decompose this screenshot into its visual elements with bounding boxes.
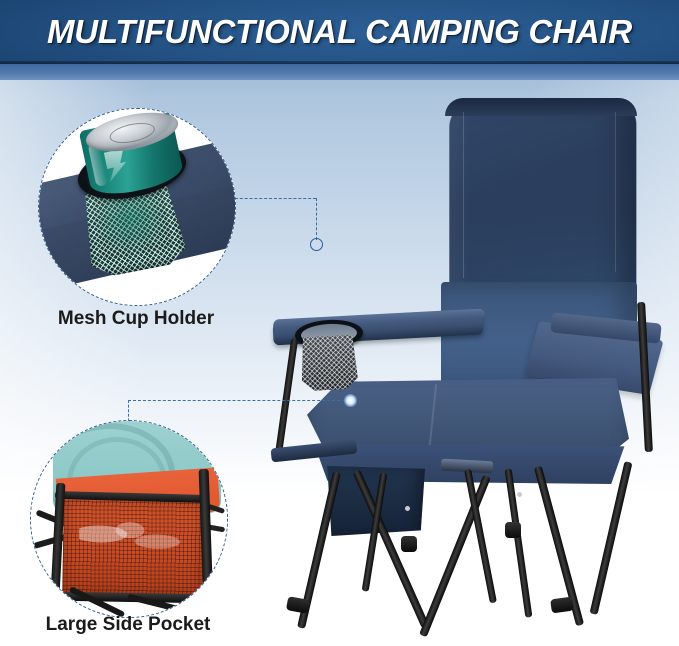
chair-foot-left xyxy=(286,596,310,614)
callout-large-side-pocket-circle xyxy=(30,420,228,618)
connector-cup-holder-horizontal xyxy=(230,198,316,199)
chair-frame-hub-left xyxy=(401,536,417,552)
callout-label-large-side-pocket: Large Side Pocket xyxy=(30,614,226,636)
chair-frame-hub-right xyxy=(505,522,521,538)
callout-mesh-cup-holder-circle xyxy=(38,108,236,306)
connector-side-pocket-horizontal xyxy=(128,400,350,401)
product-image-camping-chair xyxy=(255,92,665,646)
detail-mesh-pocket-pattern xyxy=(79,516,186,562)
chair-rivet-1 xyxy=(405,506,410,511)
header-banner: MULTIFUNCTIONAL CAMPING CHAIR xyxy=(0,0,679,64)
connector-cup-holder-marker xyxy=(310,238,323,251)
detail-soda-can-logo xyxy=(104,149,130,183)
callout-label-mesh-cup-holder: Mesh Cup Holder xyxy=(38,308,234,330)
chair-foot-right xyxy=(550,597,574,614)
chair-cup-holder-mesh xyxy=(300,335,359,392)
chair-backrest-top-edge xyxy=(445,98,637,116)
connector-cup-holder-vertical xyxy=(316,198,317,240)
page-title: MULTIFUNCTIONAL CAMPING CHAIR xyxy=(0,0,679,64)
header-accent-strip xyxy=(0,64,679,80)
chair-backrest-seam-right xyxy=(615,112,616,272)
callout-large-side-pocket-scene xyxy=(31,421,227,617)
chair-rivet-2 xyxy=(517,492,522,497)
chair-leg-5 xyxy=(590,461,633,615)
product-infographic: MULTIFUNCTIONAL CAMPING CHAIR xyxy=(0,0,679,646)
chair-backrest xyxy=(449,98,636,302)
chair-backrest-seam-left xyxy=(463,112,464,278)
chair-leg-brace-6 xyxy=(505,468,533,618)
callout-mesh-cup-holder-scene xyxy=(39,109,235,305)
connector-side-pocket-marker xyxy=(344,394,357,407)
chair-armrest-post-left xyxy=(275,338,298,456)
